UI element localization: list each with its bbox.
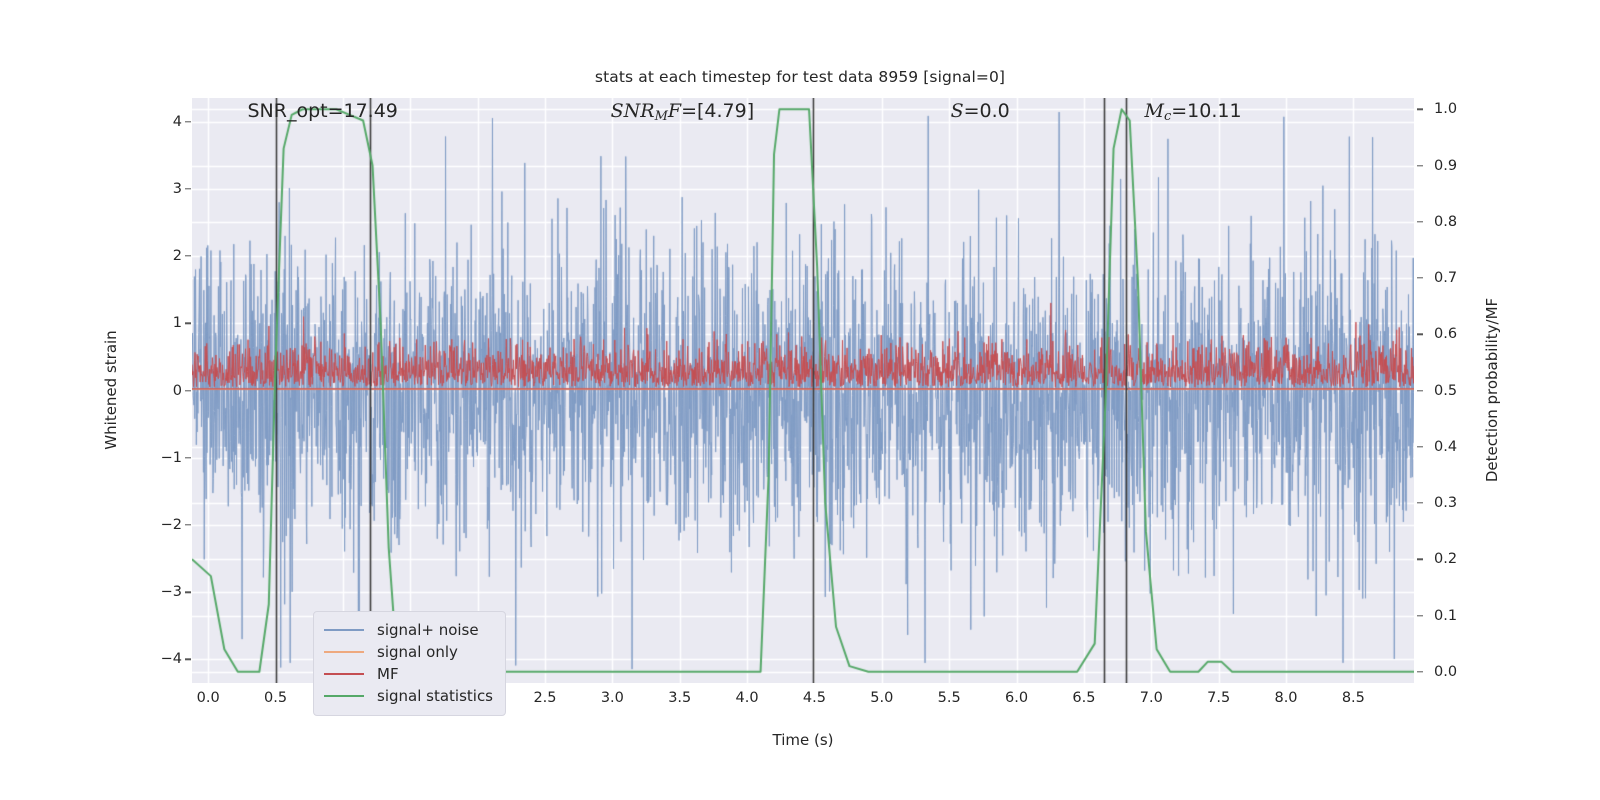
x-tick-label: 6.5 [1072,690,1095,706]
legend-item[interactable]: signal statistics [324,685,493,707]
annotation-mc: Mc=10.11 [1144,100,1241,124]
y-tick-label-right: 0.0 [1434,664,1457,680]
y-tick-mark-right [1417,559,1423,560]
annotation-snr-opt: SNR_opt=17.49 [247,100,397,122]
y-axis-left-label: Whitened strain [102,330,120,449]
figure: stats at each timestep for test data 895… [0,0,1600,800]
y-axis-right-tickmarks [1417,98,1425,683]
y-tick-mark-right [1417,502,1423,503]
page-title: stats at each timestep for test data 895… [0,68,1600,86]
legend-item[interactable]: signal only [324,641,493,663]
y-tick-mark-right [1417,221,1423,222]
y-tick-mark-right [1417,671,1423,672]
y-axis-right-label: Detection probability/MF [1483,298,1501,482]
y-tick-mark-right [1417,334,1423,335]
x-tick-label: 6.0 [1005,690,1028,706]
x-tick-label: 8.5 [1342,690,1365,706]
plot-axes [192,98,1414,683]
legend-label: signal+ noise [377,621,479,639]
legend-swatch-icon [324,651,364,653]
y-axis-right-ticklabels: 1.00.90.80.70.60.50.40.30.20.10.0 [1434,98,1478,683]
y-tick-label-right: 0.2 [1434,551,1457,567]
y-tick-label-right: 0.8 [1434,214,1457,230]
y-tick-label-left: −2 [161,517,182,533]
y-tick-mark-right [1417,446,1423,447]
x-tick-label: 0.5 [264,690,287,706]
y-tick-mark-right [1417,109,1423,110]
y-tick-label-right: 0.1 [1434,608,1457,624]
y-tick-mark-left [185,592,191,593]
y-tick-mark-left [185,390,191,391]
y-tick-label-left: −1 [161,450,182,466]
y-tick-label-right: 0.7 [1434,270,1457,286]
y-tick-label-left: −4 [161,651,182,667]
annotation-snr-mf: SNRMF=[4.79] [611,100,755,124]
y-tick-label-right: 0.4 [1434,439,1457,455]
legend-swatch-icon [324,695,364,697]
y-tick-mark-left [185,659,191,660]
x-tick-label: 4.0 [736,690,759,706]
y-tick-label-right: 0.9 [1434,158,1457,174]
y-tick-label-left: 0 [173,383,182,399]
y-tick-label-right: 0.3 [1434,495,1457,511]
y-tick-mark-left [185,121,191,122]
y-tick-mark-right [1417,277,1423,278]
legend-label: MF [377,665,399,683]
y-tick-mark-right [1417,615,1423,616]
x-tick-label: 0.0 [197,690,220,706]
y-tick-mark-left [185,188,191,189]
y-tick-label-right: 0.5 [1434,383,1457,399]
y-tick-mark-left [185,524,191,525]
y-tick-label-left: 3 [173,181,182,197]
y-axis-left-tickmarks [183,98,191,683]
y-tick-label-right: 0.6 [1434,326,1457,342]
legend-item[interactable]: MF [324,663,493,685]
x-tick-label: 7.5 [1207,690,1230,706]
y-tick-label-left: 4 [173,114,182,130]
x-tick-label: 5.0 [870,690,893,706]
y-tick-label-left: 1 [173,315,182,331]
y-tick-mark-right [1417,390,1423,391]
legend-item[interactable]: signal+ noise [324,619,493,641]
y-tick-label-right: 1.0 [1434,101,1457,117]
x-axis-label: Time (s) [773,731,834,749]
plot-canvas [192,98,1414,683]
legend-label: signal statistics [377,687,493,705]
y-tick-mark-left [185,255,191,256]
y-tick-mark-left [185,457,191,458]
legend-label: signal only [377,643,458,661]
y-tick-label-left: 2 [173,248,182,264]
y-axis-left-ticklabels: 43210−1−2−3−4 [150,98,182,683]
legend-swatch-icon [324,673,364,675]
legend-swatch-icon [324,629,364,631]
x-tick-label: 8.0 [1274,690,1297,706]
y-tick-mark-right [1417,165,1423,166]
x-tick-label: 3.0 [601,690,624,706]
x-tick-label: 5.5 [938,690,961,706]
x-tick-label: 7.0 [1140,690,1163,706]
y-tick-label-left: −3 [161,584,182,600]
x-tick-label: 3.5 [668,690,691,706]
x-tick-label: 2.5 [533,690,556,706]
y-tick-mark-left [185,323,191,324]
legend: signal+ noisesignal onlyMFsignal statist… [313,611,506,716]
annotation-s-stat: S=0.0 [951,100,1010,122]
x-tick-label: 4.5 [803,690,826,706]
